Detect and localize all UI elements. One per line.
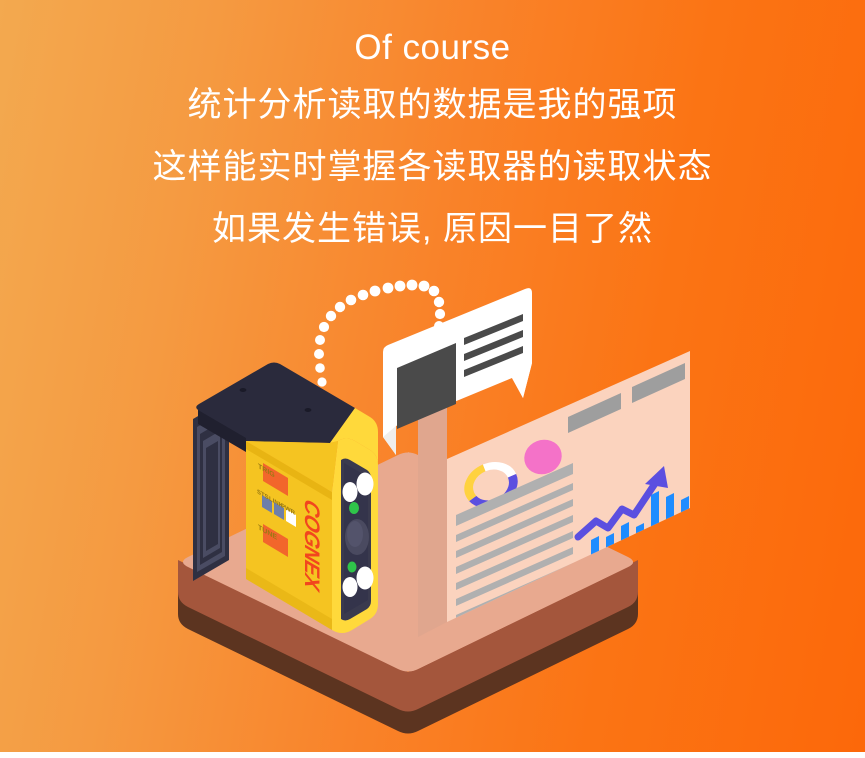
aimer-dot-top (349, 502, 359, 514)
illuminator-led-2 (357, 473, 374, 496)
aimer-dot-bottom (348, 562, 357, 573)
scanner-screw-2 (305, 408, 312, 412)
scanner-lens-panel (341, 459, 374, 621)
poster-canvas: Of course 统计分析读取的数据是我的强项 这样能实时掌握各读取器的读取状… (0, 0, 865, 758)
cognex-logo: COGNEX (300, 494, 324, 596)
illuminator-led-1 (343, 482, 358, 502)
bar-4 (636, 523, 644, 561)
scanner-screw-1 (240, 388, 247, 392)
illustration-scene: TRIG TUNE STS LINK PWR COGNEX (0, 0, 865, 758)
illuminator-led-3 (343, 577, 358, 597)
bottom-white-strip (0, 752, 865, 758)
bar-7 (681, 496, 689, 540)
bar-6 (666, 493, 674, 547)
bar-5 (651, 491, 659, 553)
illuminator-led-4 (357, 567, 374, 590)
